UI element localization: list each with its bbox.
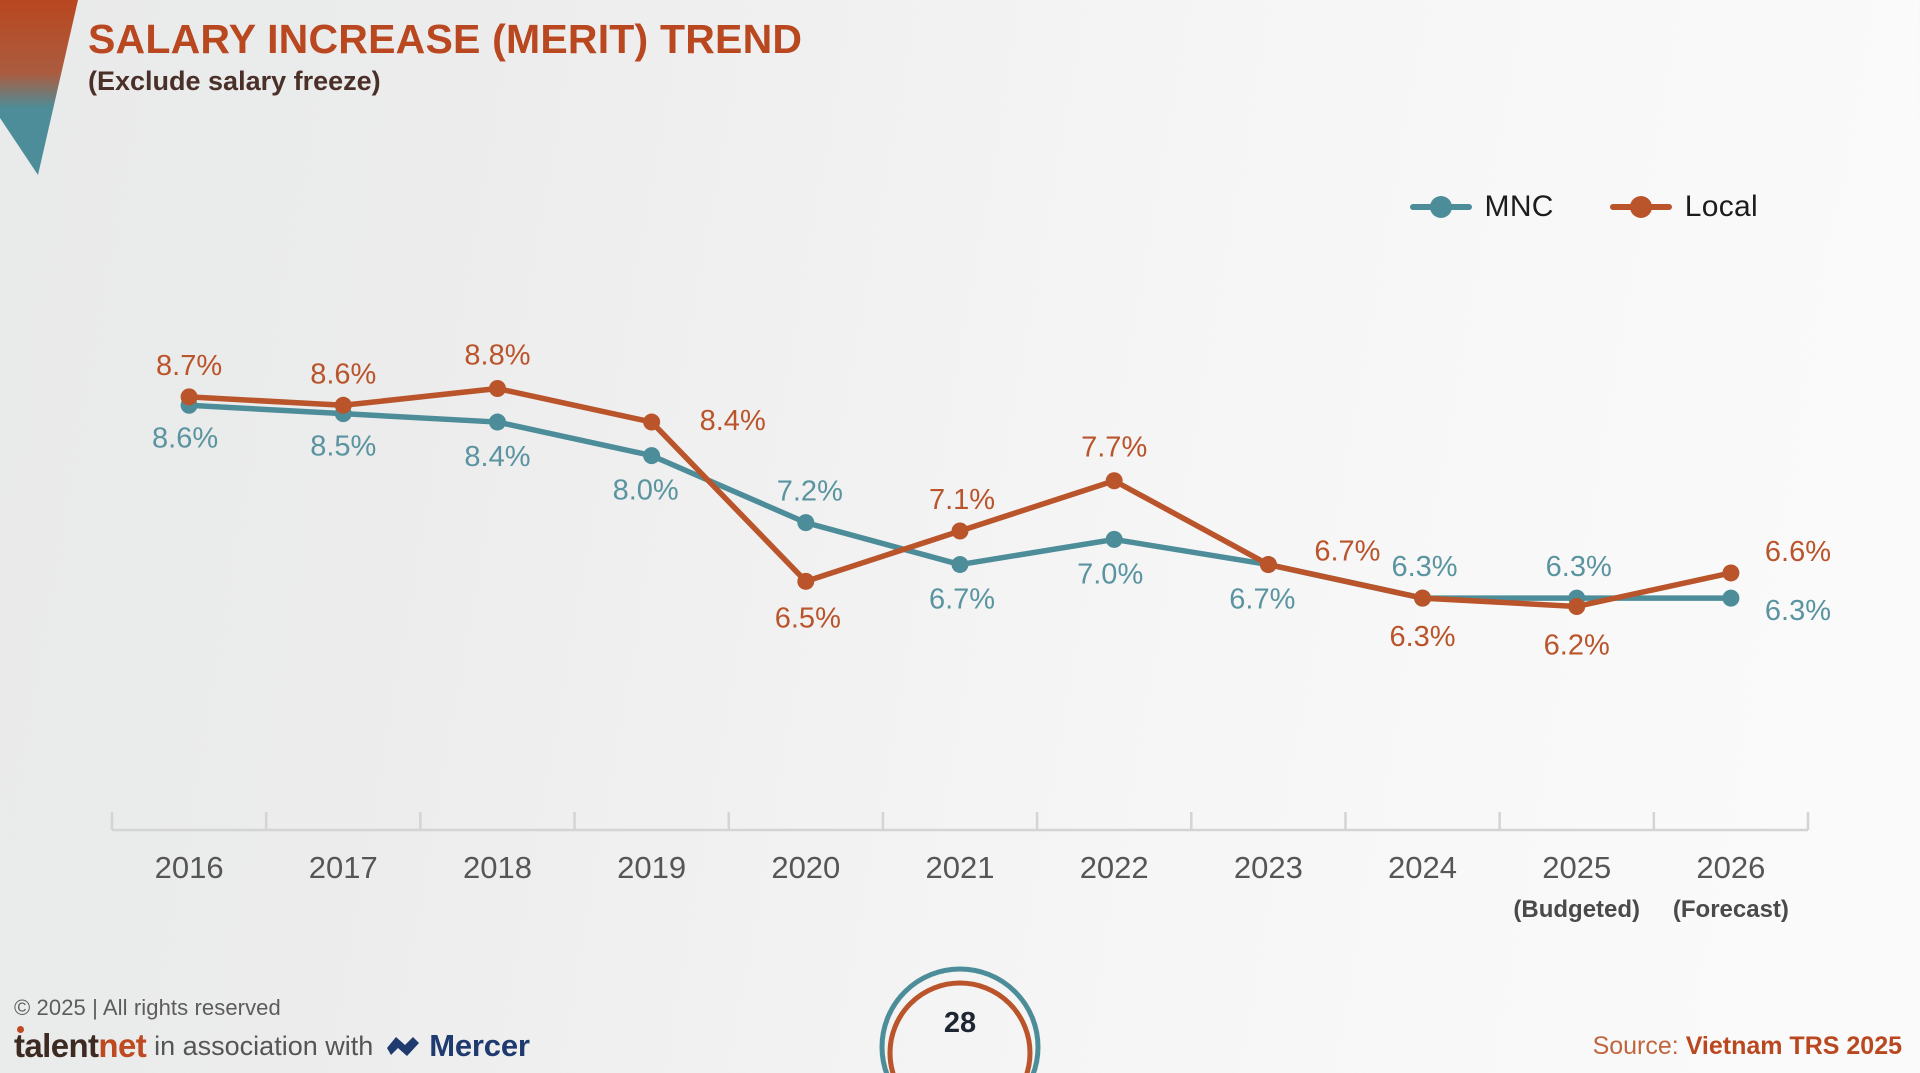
x-tick-label-2018: 2018	[463, 850, 532, 885]
x-tick-label-2016: 2016	[155, 850, 224, 885]
chart-legend: MNC Local	[1410, 190, 1758, 224]
data-label-mnc-2016: 8.6%	[152, 422, 218, 454]
series-line-mnc	[189, 405, 1731, 598]
mercer-logo[interactable]: Mercer	[385, 1028, 529, 1064]
legend-item-local[interactable]: Local	[1610, 190, 1758, 224]
data-label-local-2017: 8.6%	[310, 358, 376, 390]
data-label-mnc-2023: 6.7%	[1229, 584, 1295, 616]
data-point[interactable]	[1106, 472, 1123, 489]
data-label-mnc-2024: 6.3%	[1391, 551, 1457, 583]
talentnet-logo-net: net	[98, 1027, 146, 1064]
talentnet-dot-icon	[17, 1026, 24, 1033]
legend-label-mnc: MNC	[1485, 190, 1554, 224]
x-tick-label-2020: 2020	[771, 850, 840, 885]
association-text: in association with	[154, 1031, 373, 1062]
data-label-mnc-2026: 6.3%	[1765, 595, 1831, 627]
data-label-local-2026: 6.6%	[1765, 536, 1831, 568]
data-label-mnc-2020: 7.2%	[777, 476, 843, 508]
data-point[interactable]	[1568, 598, 1585, 615]
x-tick-label-2019: 2019	[617, 850, 686, 885]
chart-data-labels: 8.6%8.5%8.4%8.0%7.2%6.7%7.0%6.7%6.3%6.3%…	[152, 340, 1831, 662]
mercer-diamond-icon	[385, 1032, 421, 1060]
data-label-mnc-2022: 7.0%	[1077, 558, 1143, 590]
talentnet-logo[interactable]: talentnet	[14, 1027, 146, 1065]
x-tick-label-2024: 2024	[1388, 850, 1457, 885]
x-axis	[112, 812, 1808, 830]
x-tick-sublabel-2025: (Budgeted)	[1513, 896, 1640, 923]
data-point[interactable]	[797, 573, 814, 590]
header: SALARY INCREASE (MERIT) TREND (Exclude s…	[88, 18, 802, 97]
series-line-local	[189, 389, 1731, 607]
data-label-local-2022: 7.7%	[1081, 432, 1147, 464]
data-point[interactable]	[335, 405, 352, 422]
page-number-badge: 28	[872, 959, 1048, 1073]
talentnet-logo-talent: talent	[14, 1027, 98, 1064]
source-prefix: Source:	[1593, 1032, 1679, 1060]
data-point[interactable]	[1260, 556, 1277, 573]
data-point[interactable]	[1106, 531, 1123, 548]
page-number: 28	[872, 1007, 1048, 1040]
line-chart: 8.6%8.5%8.4%8.0%7.2%6.7%7.0%6.7%6.3%6.3%…	[0, 0, 1920, 960]
data-point[interactable]	[643, 447, 660, 464]
data-point[interactable]	[1568, 590, 1585, 607]
data-point[interactable]	[952, 556, 969, 573]
data-label-local-2018: 8.8%	[464, 340, 530, 372]
footer-left: © 2025 | All rights reserved talentnet i…	[14, 995, 530, 1065]
data-label-local-2020: 6.5%	[775, 602, 841, 634]
x-tick-label-2021: 2021	[926, 850, 995, 885]
data-point[interactable]	[1722, 590, 1739, 607]
data-point[interactable]	[952, 523, 969, 540]
data-point[interactable]	[489, 380, 506, 397]
data-point[interactable]	[335, 397, 352, 414]
data-point[interactable]	[1414, 590, 1431, 607]
data-point[interactable]	[797, 514, 814, 531]
x-tick-sublabel-2026: (Forecast)	[1673, 896, 1789, 923]
data-point[interactable]	[1722, 564, 1739, 581]
corner-decoration	[0, 0, 90, 180]
data-point[interactable]	[489, 414, 506, 431]
x-tick-label-2023: 2023	[1234, 850, 1303, 885]
x-tick-label-2025: 2025	[1542, 850, 1611, 885]
legend-label-local: Local	[1685, 190, 1758, 224]
data-label-local-2025: 6.2%	[1544, 629, 1610, 661]
source-note: Source: Vietnam TRS 2025	[1593, 1032, 1902, 1061]
data-point[interactable]	[643, 414, 660, 431]
chart-series-group	[181, 380, 1740, 615]
page-subtitle: (Exclude salary freeze)	[88, 67, 802, 97]
data-label-local-2021: 7.1%	[929, 484, 995, 516]
x-tick-label-2022: 2022	[1080, 850, 1149, 885]
line-marker-icon	[1410, 196, 1472, 218]
data-label-local-2019: 8.4%	[700, 405, 766, 437]
x-axis-tick-labels: 2016201720182019202020212022202320242025…	[155, 850, 1789, 923]
data-point[interactable]	[1414, 590, 1431, 607]
data-label-local-2024: 6.3%	[1389, 621, 1455, 653]
data-label-mnc-2025: 6.3%	[1546, 551, 1612, 583]
legend-item-mnc[interactable]: MNC	[1410, 190, 1554, 224]
data-label-mnc-2019: 8.0%	[613, 475, 679, 507]
data-point[interactable]	[181, 397, 198, 414]
page-title: SALARY INCREASE (MERIT) TREND	[88, 18, 802, 61]
data-label-mnc-2017: 8.5%	[310, 431, 376, 463]
copyright-text: © 2025 | All rights reserved	[14, 995, 530, 1021]
line-marker-icon	[1610, 196, 1672, 218]
data-point[interactable]	[1260, 556, 1277, 573]
source-value: Vietnam TRS 2025	[1686, 1032, 1902, 1060]
data-label-local-2016: 8.7%	[156, 350, 222, 382]
data-point[interactable]	[181, 388, 198, 405]
x-tick-label-2026: 2026	[1696, 850, 1765, 885]
data-label-mnc-2018: 8.4%	[464, 441, 530, 473]
mercer-text: Mercer	[429, 1028, 529, 1064]
association-line: talentnet in association with Mercer	[14, 1027, 530, 1065]
data-label-mnc-2021: 6.7%	[929, 584, 995, 616]
data-label-local-2023: 6.7%	[1314, 536, 1380, 568]
x-tick-label-2017: 2017	[309, 850, 378, 885]
